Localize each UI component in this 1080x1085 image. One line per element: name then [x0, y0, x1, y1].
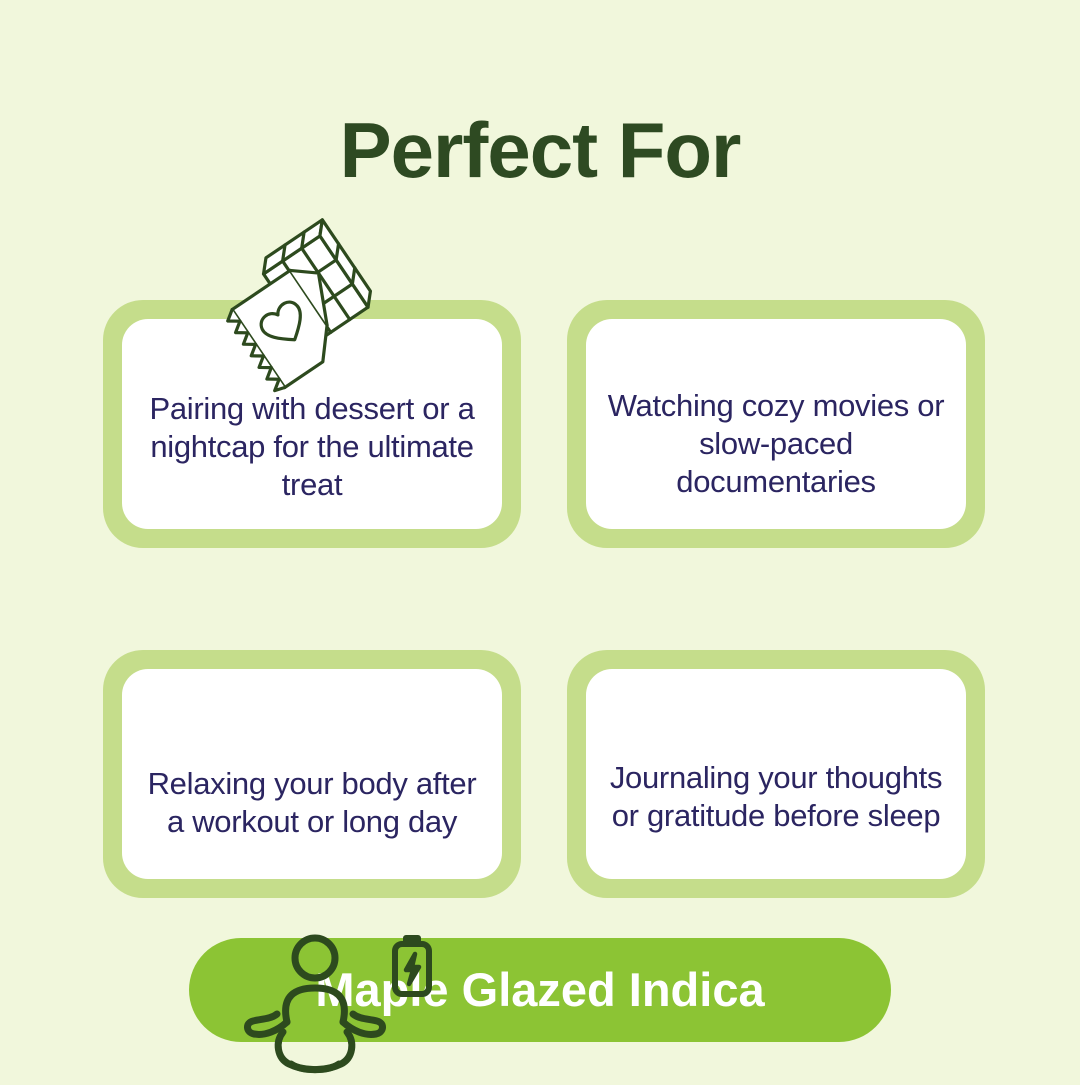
benefit-card-watching-movies[interactable]: Watching cozy movies or slow-paced docum…: [567, 300, 985, 548]
infographic-page: Perfect For Pairing with dessert or a ni…: [0, 0, 1080, 1080]
page-title: Perfect For: [0, 104, 1080, 196]
benefit-card-relaxing-body[interactable]: Relaxing your body after a workout or lo…: [103, 650, 521, 898]
product-name-label: Maple Glazed Indica: [315, 965, 764, 1015]
benefit-card-journaling-thoughts[interactable]: Journaling your thoughts or gratitude be…: [567, 650, 985, 898]
product-name-pill[interactable]: Maple Glazed Indica: [189, 938, 891, 1042]
card-body: Watching cozy movies or slow-paced docum…: [586, 319, 966, 529]
card-text: Pairing with dessert or a nightcap for t…: [136, 390, 488, 504]
card-body: Relaxing your body after a workout or lo…: [122, 669, 502, 879]
card-text: Relaxing your body after a workout or lo…: [136, 765, 488, 841]
card-text: Watching cozy movies or slow-paced docum…: [600, 387, 952, 501]
benefit-card-grid: Pairing with dessert or a nightcap for t…: [103, 300, 985, 900]
card-body: Pairing with dessert or a nightcap for t…: [122, 319, 502, 529]
benefit-card-pairing-dessert[interactable]: Pairing with dessert or a nightcap for t…: [103, 300, 521, 548]
card-body: Journaling your thoughts or gratitude be…: [586, 669, 966, 879]
card-text: Journaling your thoughts or gratitude be…: [600, 759, 952, 835]
